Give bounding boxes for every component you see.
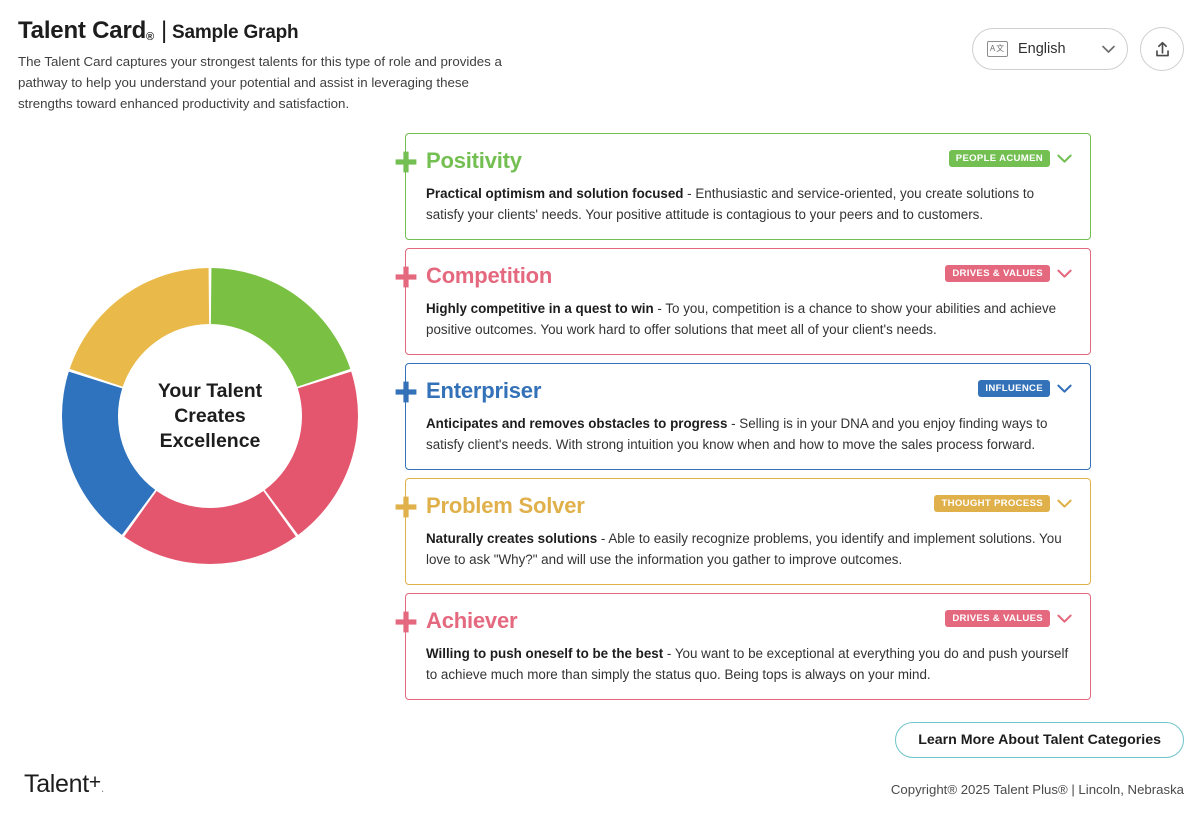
plus-icon bbox=[395, 611, 417, 633]
brand-plus-icon: + bbox=[89, 771, 101, 794]
card-headline: Willing to push oneself to be the best bbox=[426, 646, 663, 661]
donut-segment-competition bbox=[265, 372, 358, 535]
talent-cards-list: PositivityPEOPLE ACUMENPractical optimis… bbox=[405, 133, 1091, 708]
card-headline: Anticipates and removes obstacles to pro… bbox=[426, 416, 727, 431]
card-headline: Practical optimism and solution focused bbox=[426, 186, 683, 201]
talent-card[interactable]: CompetitionDRIVES & VALUESHighly competi… bbox=[405, 248, 1091, 355]
plus-icon bbox=[395, 496, 417, 518]
card-headline: Naturally creates solutions bbox=[426, 531, 597, 546]
title-separator: | bbox=[161, 17, 167, 44]
plus-icon bbox=[395, 266, 417, 288]
plus-icon bbox=[395, 151, 417, 173]
talent-card[interactable]: Problem SolverTHOUGHT PROCESSNaturally c… bbox=[405, 478, 1091, 585]
brand-dot: . bbox=[101, 781, 104, 795]
talent-card[interactable]: AchieverDRIVES & VALUESWilling to push o… bbox=[405, 593, 1091, 700]
language-value: English bbox=[1018, 41, 1092, 57]
brand-name: Talent bbox=[24, 770, 89, 798]
share-button[interactable] bbox=[1140, 27, 1184, 71]
category-badge[interactable]: DRIVES & VALUES bbox=[945, 610, 1050, 627]
chevron-down-icon[interactable] bbox=[1057, 154, 1072, 164]
donut-segment-achiever bbox=[124, 491, 296, 564]
card-badge-group: INFLUENCE bbox=[978, 380, 1072, 397]
chevron-down-icon[interactable] bbox=[1057, 499, 1072, 509]
donut-segment-problem-solver bbox=[70, 268, 209, 387]
card-body: Highly competitive in a quest to win - T… bbox=[426, 298, 1072, 340]
donut-segment-enterpriser bbox=[62, 372, 155, 535]
card-badge-group: PEOPLE ACUMEN bbox=[949, 150, 1072, 167]
donut-svg bbox=[60, 258, 360, 574]
header-controls: A文 English bbox=[972, 27, 1184, 71]
chevron-down-icon[interactable] bbox=[1057, 614, 1072, 624]
talent-donut-chart: Your Talent Creates Excellence bbox=[60, 258, 360, 574]
learn-more-button[interactable]: Learn More About Talent Categories bbox=[895, 722, 1184, 758]
card-title: Achiever bbox=[426, 608, 517, 634]
category-badge[interactable]: DRIVES & VALUES bbox=[945, 265, 1050, 282]
category-badge[interactable]: THOUGHT PROCESS bbox=[934, 495, 1050, 512]
card-badge-group: DRIVES & VALUES bbox=[945, 610, 1072, 627]
card-body: Willing to push oneself to be the best -… bbox=[426, 643, 1072, 685]
title-block: Talent Card®|Sample Graph The Talent Car… bbox=[18, 19, 518, 114]
talent-plus-logo: Talent+. bbox=[24, 770, 104, 799]
plus-icon bbox=[395, 381, 417, 403]
card-badge-group: DRIVES & VALUES bbox=[945, 265, 1072, 282]
learn-more-row: Learn More About Talent Categories bbox=[0, 722, 1200, 758]
share-upload-icon bbox=[1152, 39, 1173, 60]
page-header: Talent Card®|Sample Graph The Talent Car… bbox=[0, 0, 1200, 120]
chevron-down-icon bbox=[1102, 45, 1115, 54]
page-title: Talent Card®|Sample Graph bbox=[18, 19, 518, 43]
donut-segment-positivity bbox=[211, 268, 350, 387]
page-title-main: Talent Card bbox=[18, 17, 146, 44]
talent-card[interactable]: EnterpriserINFLUENCEAnticipates and remo… bbox=[405, 363, 1091, 470]
card-badge-group: THOUGHT PROCESS bbox=[934, 495, 1072, 512]
card-body: Naturally creates solutions - Able to ea… bbox=[426, 528, 1072, 570]
page-footer: Talent+. Copyright® 2025 Talent Plus® | … bbox=[0, 762, 1200, 821]
chevron-down-icon[interactable] bbox=[1057, 384, 1072, 394]
registered-mark: ® bbox=[146, 31, 154, 43]
card-body: Practical optimism and solution focused … bbox=[426, 183, 1072, 225]
chevron-down-icon[interactable] bbox=[1057, 269, 1072, 279]
copyright-text: Copyright® 2025 Talent Plus® | Lincoln, … bbox=[891, 782, 1184, 797]
card-header: AchieverDRIVES & VALUES bbox=[426, 608, 1072, 634]
card-headline: Highly competitive in a quest to win bbox=[426, 301, 654, 316]
card-body: Anticipates and removes obstacles to pro… bbox=[426, 413, 1072, 455]
page-description: The Talent Card captures your strongest … bbox=[18, 51, 518, 114]
card-title: Enterpriser bbox=[426, 378, 541, 404]
card-header: EnterpriserINFLUENCE bbox=[426, 378, 1072, 404]
talent-card[interactable]: PositivityPEOPLE ACUMENPractical optimis… bbox=[405, 133, 1091, 240]
card-header: CompetitionDRIVES & VALUES bbox=[426, 263, 1072, 289]
category-badge[interactable]: INFLUENCE bbox=[978, 380, 1050, 397]
card-title: Problem Solver bbox=[426, 493, 585, 519]
card-header: Problem SolverTHOUGHT PROCESS bbox=[426, 493, 1072, 519]
category-badge[interactable]: PEOPLE ACUMEN bbox=[949, 150, 1050, 167]
language-selector[interactable]: A文 English bbox=[972, 28, 1128, 70]
card-title: Competition bbox=[426, 263, 552, 289]
page-subtitle: Sample Graph bbox=[172, 22, 298, 43]
card-header: PositivityPEOPLE ACUMEN bbox=[426, 148, 1072, 174]
translate-icon: A文 bbox=[987, 41, 1008, 57]
card-title: Positivity bbox=[426, 148, 522, 174]
